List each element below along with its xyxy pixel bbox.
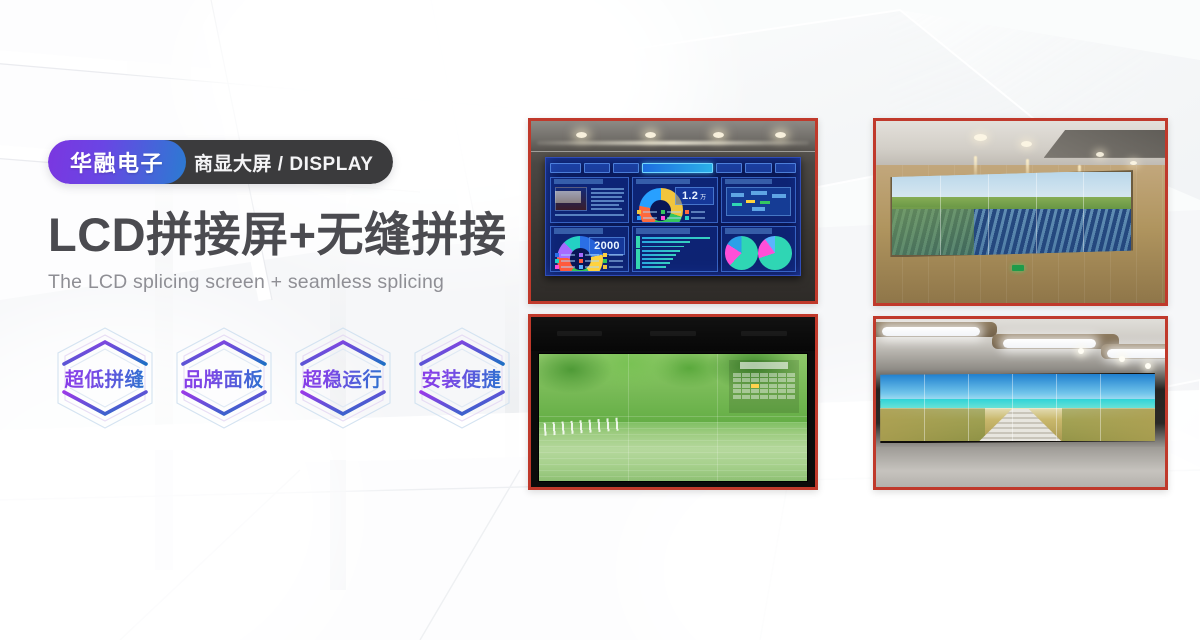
- dashboard-card: 1.2万: [632, 177, 718, 223]
- feature-label: 品牌面板: [183, 363, 263, 392]
- feature-label: 安装便捷: [421, 363, 501, 392]
- page-title: LCD拼接屏+无缝拼接: [48, 210, 518, 260]
- calendar-overlay: [729, 360, 799, 413]
- feature-item: 超稳运行: [286, 322, 399, 434]
- dashboard-screen: 1.2万: [545, 157, 801, 276]
- kpi-value: 2000: [589, 237, 624, 255]
- dashboard-card: [721, 226, 796, 272]
- brand-badge: 华融电子 商显大屏 / DISPLAY: [48, 140, 393, 184]
- photo-solar-farm-video-wall[interactable]: [873, 118, 1168, 306]
- feature-list: 超低拼缝 品牌面板: [48, 322, 518, 434]
- photo-dashboard-video-wall[interactable]: 1.2万: [528, 118, 818, 304]
- dashboard-card: [550, 177, 629, 223]
- category-label: 商显大屏 / DISPLAY: [160, 140, 393, 184]
- headline-block: 华融电子 商显大屏 / DISPLAY LCD拼接屏+无缝拼接 The LCD …: [48, 140, 518, 434]
- beach-boardwalk-screen: [880, 373, 1155, 444]
- pie-chart: [725, 236, 759, 270]
- brand-name: 华融电子: [48, 140, 186, 184]
- feature-label: 超稳运行: [302, 363, 382, 392]
- feature-label: 超低拼缝: [64, 363, 144, 392]
- kpi-value: 1.2万: [675, 187, 714, 205]
- feature-item: 安装便捷: [405, 322, 518, 434]
- photo-gallery: 1.2万: [528, 118, 1168, 490]
- willow-lake-screen: [538, 353, 808, 482]
- dashboard-card: [632, 226, 718, 272]
- feature-item: 超低拼缝: [48, 322, 161, 434]
- photo-beach-boardwalk-video-wall[interactable]: [873, 316, 1168, 490]
- dashboard-card: [721, 177, 796, 223]
- dashboard-card: 2000: [550, 226, 629, 272]
- product-banner: 华融电子 商显大屏 / DISPLAY LCD拼接屏+无缝拼接 The LCD …: [0, 0, 1200, 640]
- page-subtitle: The LCD splicing screen + seamless splic…: [48, 271, 518, 294]
- photo-willow-lake-video-wall[interactable]: [528, 314, 818, 490]
- feature-item: 品牌面板: [167, 322, 280, 434]
- solar-farm-screen: [890, 170, 1133, 257]
- pie-chart: [758, 236, 792, 270]
